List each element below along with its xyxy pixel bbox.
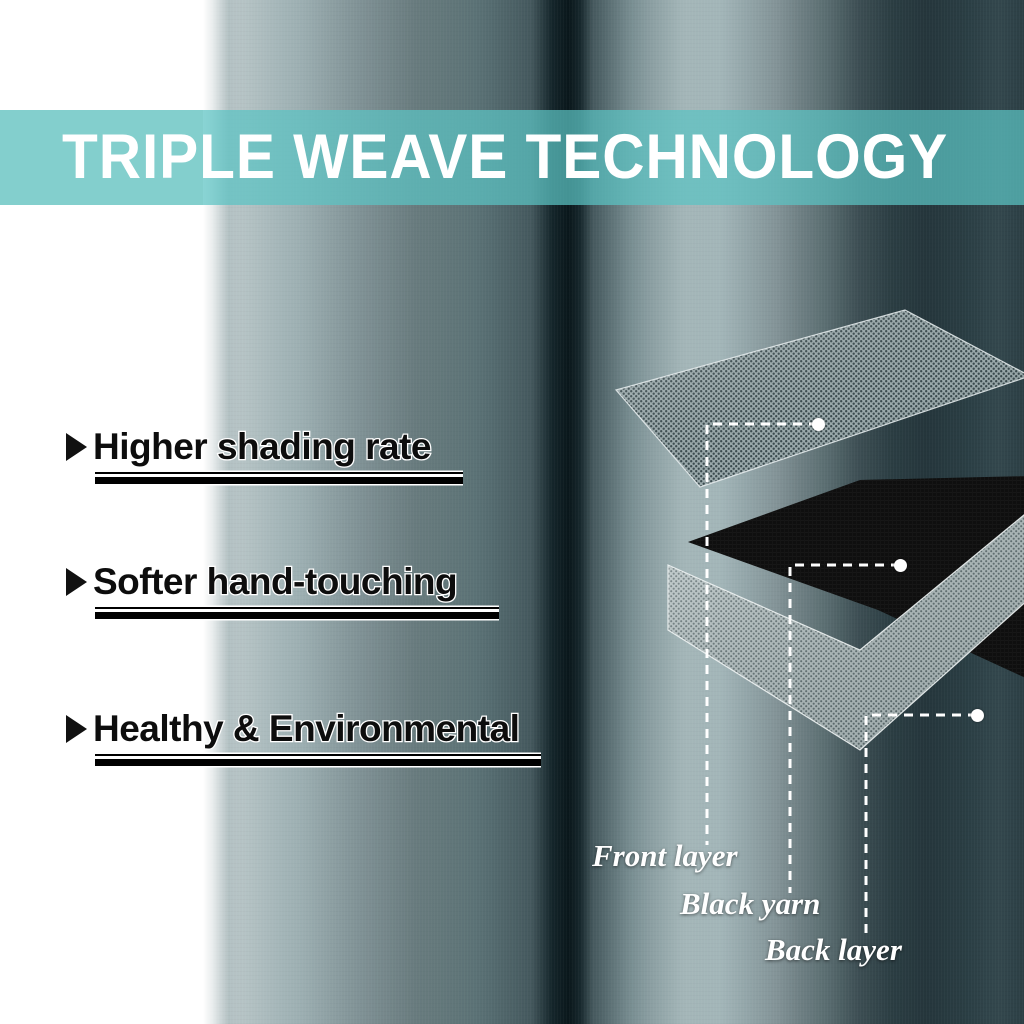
feature-row-1: Higher shading rate: [66, 428, 431, 465]
feature-underline-1: [95, 472, 463, 484]
feature-item-2: Softer hand-touching: [66, 563, 457, 600]
leader-line-back-layer: [866, 715, 977, 940]
leader-line-front-layer: [707, 424, 818, 845]
feature-underline-3: [95, 754, 541, 766]
triangle-right-icon: [66, 433, 87, 461]
feature-label-1: Higher shading rate: [93, 428, 431, 465]
callout-label-black-yarn: Black yarn: [680, 886, 820, 922]
underline-thick: [95, 759, 541, 766]
callout-label-front-layer: Front layer: [592, 838, 738, 874]
feature-underline-2: [95, 607, 499, 619]
callout-dot-front-layer[interactable]: [812, 418, 825, 431]
underline-thin: [95, 607, 499, 609]
callout-dot-back-layer[interactable]: [971, 709, 984, 722]
callout-dot-black-yarn[interactable]: [894, 559, 907, 572]
feature-item-3: Healthy & Environmental: [66, 710, 519, 747]
feature-row-3: Healthy & Environmental: [66, 710, 519, 747]
feature-row-2: Softer hand-touching: [66, 563, 457, 600]
leader-line-black-yarn: [790, 565, 900, 893]
triangle-right-icon: [66, 568, 87, 596]
feature-item-1: Higher shading rate: [66, 428, 431, 465]
triangle-right-icon: [66, 715, 87, 743]
underline-thick: [95, 477, 463, 484]
underline-thick: [95, 612, 499, 619]
page-title: TRIPLE WEAVE TECHNOLOGY: [62, 110, 946, 205]
callout-label-back-layer: Back layer: [765, 932, 902, 968]
product-feature-image: Front layer Black yarn Back layer TRIPLE…: [0, 0, 1024, 1024]
feature-label-2: Softer hand-touching: [93, 563, 457, 600]
feature-label-3: Healthy & Environmental: [93, 710, 519, 747]
underline-thin: [95, 754, 541, 756]
underline-thin: [95, 472, 463, 474]
